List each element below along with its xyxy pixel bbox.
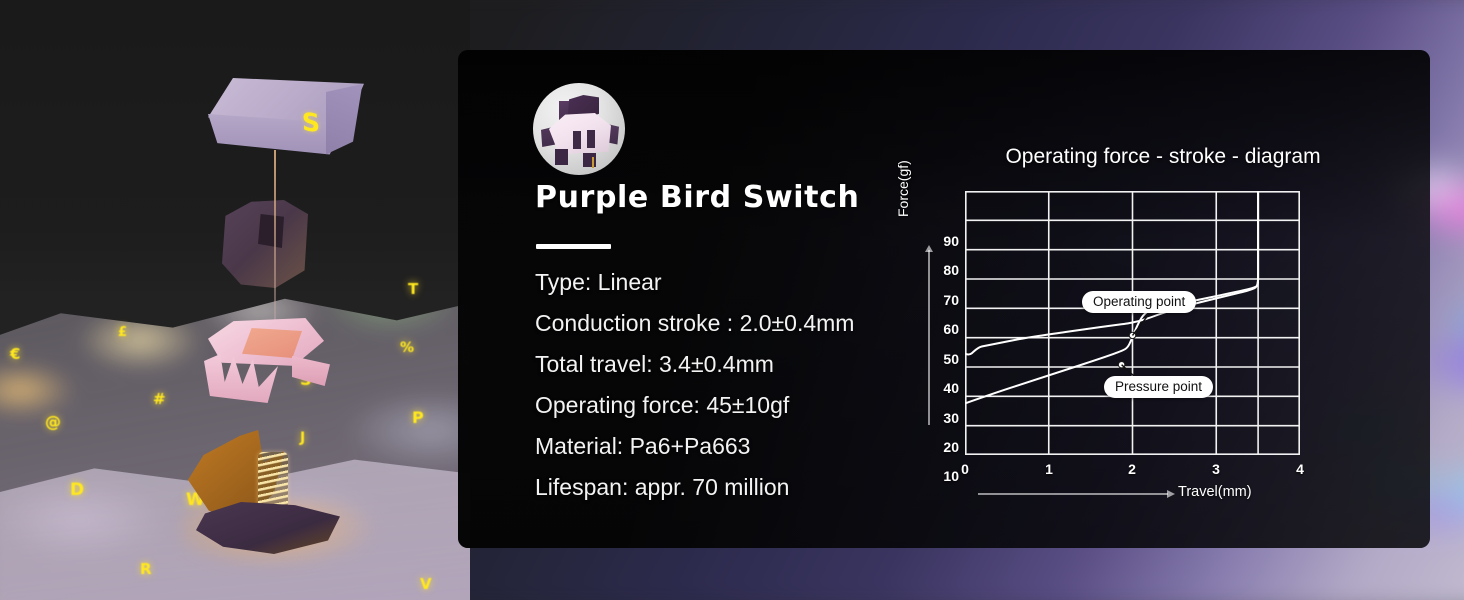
spec-value: Pa6+Pa663 bbox=[630, 433, 751, 459]
housing-well bbox=[242, 328, 302, 358]
y-tick-label: 40 bbox=[935, 380, 959, 396]
spec-value: Linear bbox=[598, 269, 662, 295]
spec-key: Lifespan: bbox=[535, 474, 628, 500]
keycap-legend-glyph: D bbox=[70, 480, 84, 500]
spec-value: 3.4±0.4mm bbox=[659, 351, 774, 377]
keycap-legend-glyph: T bbox=[408, 280, 418, 298]
mechanical-switch-icon bbox=[533, 83, 625, 175]
x-tick-label: 0 bbox=[955, 461, 975, 477]
product-banner: € £ @ # W D S J T % P R V S bbox=[0, 0, 1464, 600]
keycap-legend-glyph: % bbox=[400, 340, 414, 356]
hero-switch-photo: € £ @ # W D S J T % P R V S bbox=[0, 0, 470, 600]
y-tick-label: 50 bbox=[935, 351, 959, 367]
keycap-legend-glyph: J bbox=[300, 430, 305, 446]
spec-row: Type: Linear bbox=[535, 262, 955, 303]
y-tick-label: 80 bbox=[935, 262, 959, 278]
title-divider bbox=[536, 244, 611, 249]
keycap-legend-glyph: # bbox=[153, 390, 166, 408]
keycap-letter: S bbox=[301, 107, 320, 138]
x-axis-arrow-icon bbox=[978, 493, 1168, 495]
chart-y-axis-label: Force(gf) bbox=[895, 160, 911, 217]
spec-card: Purple Bird Switch Type: Linear Conducti… bbox=[458, 50, 1430, 548]
x-tick-label: 1 bbox=[1039, 461, 1059, 477]
y-tick-label: 30 bbox=[935, 410, 959, 426]
switch-housing-slot bbox=[587, 130, 595, 148]
spec-row: Material: Pa6+Pa663 bbox=[535, 426, 955, 467]
vertical-gridlines bbox=[1049, 191, 1258, 455]
chart-svg bbox=[965, 191, 1300, 455]
spec-value: 45±10gf bbox=[706, 392, 789, 418]
page-title: Purple Bird Switch bbox=[535, 180, 859, 215]
spec-key: Operating force: bbox=[535, 392, 700, 418]
operating-point-callout: Operating point bbox=[1082, 291, 1196, 313]
pressure-point-callout: Pressure point bbox=[1104, 376, 1213, 398]
y-tick-label: 70 bbox=[935, 292, 959, 308]
spec-value: appr. 70 million bbox=[635, 474, 790, 500]
spec-key: Conduction stroke : bbox=[535, 310, 733, 336]
spec-key: Material: bbox=[535, 433, 623, 459]
spec-list: Type: Linear Conduction stroke : 2.0±0.4… bbox=[535, 262, 955, 508]
chart-title: Operating force - stroke - diagram bbox=[913, 145, 1413, 169]
assembly-guide-line bbox=[274, 150, 276, 340]
x-tick-label: 3 bbox=[1206, 461, 1226, 477]
spec-row: Total travel: 3.4±0.4mm bbox=[535, 344, 955, 385]
switch-foot-right bbox=[583, 153, 596, 167]
x-tick-label: 2 bbox=[1122, 461, 1142, 477]
spec-row: Operating force: 45±10gf bbox=[535, 385, 955, 426]
y-tick-label: 90 bbox=[935, 233, 959, 249]
keycap-legend-glyph: £ bbox=[118, 325, 127, 340]
switch-stem bbox=[222, 200, 308, 288]
y-tick-label: 60 bbox=[935, 321, 959, 337]
keycap-legend-glyph: V bbox=[420, 575, 432, 593]
keycap-side-face bbox=[326, 84, 378, 164]
switch-housing-slot bbox=[573, 131, 581, 149]
switch-upper-housing bbox=[196, 318, 326, 404]
force-stroke-chart: Operating force - stroke - diagram Force… bbox=[913, 145, 1413, 535]
switch-foot-left bbox=[555, 149, 568, 165]
spec-key: Type: bbox=[535, 269, 591, 295]
chart-plot-area: Operating point Pressure point bbox=[965, 191, 1300, 455]
switch-pin bbox=[592, 157, 594, 168]
y-axis-arrow-icon bbox=[928, 250, 930, 425]
spec-key: Total travel: bbox=[535, 351, 653, 377]
housing-wing bbox=[292, 356, 330, 386]
chart-x-axis-label: Travel(mm) bbox=[1178, 484, 1252, 500]
x-tick-label: 4 bbox=[1290, 461, 1310, 477]
keycap-legend-glyph: € bbox=[10, 345, 20, 363]
keycap-legend-glyph: P bbox=[412, 408, 424, 427]
keycap-legend-glyph: R bbox=[140, 560, 152, 578]
floating-keycap: S bbox=[190, 78, 380, 170]
spec-row: Conduction stroke : 2.0±0.4mm bbox=[535, 303, 955, 344]
release-curve bbox=[965, 191, 1258, 354]
keycap-legend-glyph: @ bbox=[45, 412, 61, 431]
y-tick-label: 20 bbox=[935, 439, 959, 455]
stem-slot bbox=[258, 214, 284, 248]
spec-row: Lifespan: appr. 70 million bbox=[535, 467, 955, 508]
spec-value: 2.0±0.4mm bbox=[740, 310, 855, 336]
